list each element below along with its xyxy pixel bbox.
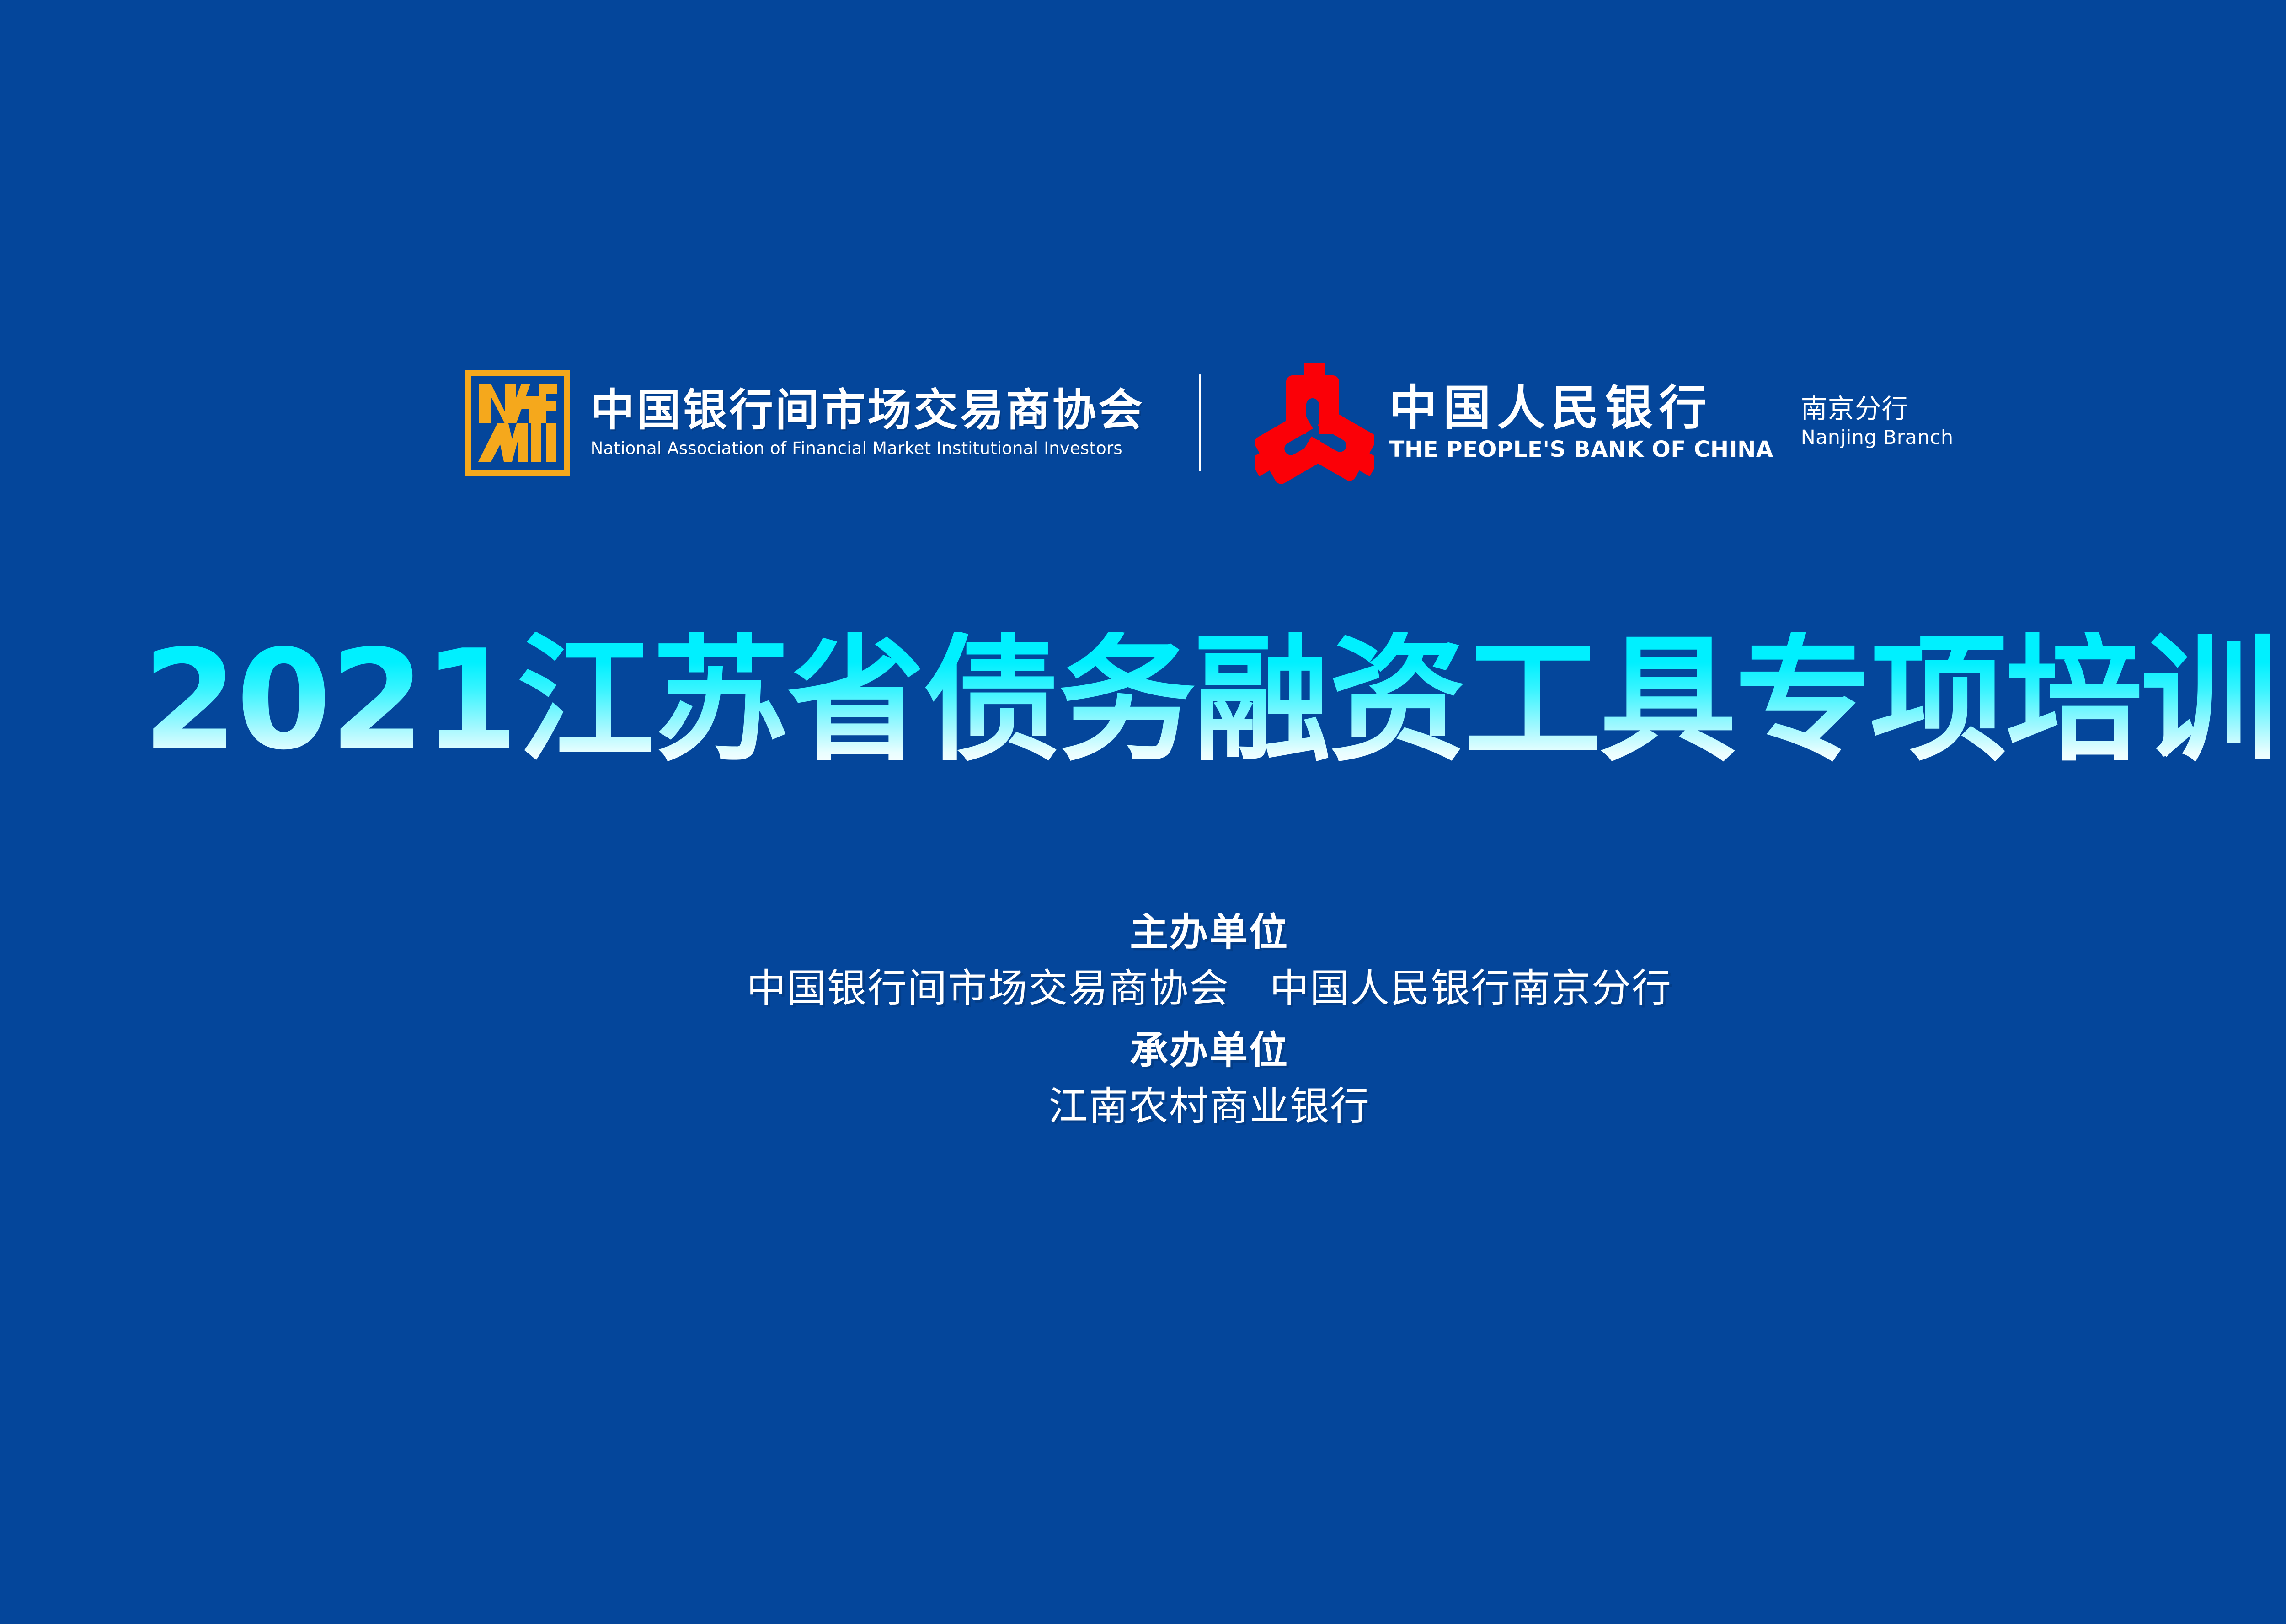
nafmii-logo-group: 中国银行间市场交易商协会 National Association of Fin… [465,370,1145,476]
credits-spacer [0,1012,2286,1028]
pboc-text-block: 中国人民银行 THE PEOPLE'S BANK OF CHINA [1389,383,1773,463]
pboc-branch-en: Nanjing Branch [1801,426,1954,450]
pboc-logo-group: 中国人民银行 THE PEOPLE'S BANK OF CHINA 南京分行 N… [1255,361,1954,485]
host-label: 主办单位 [0,910,2286,955]
page-title: 2021江苏省债务融资工具专项培训 [0,632,2286,769]
nafmii-name-cn: 中国银行间市场交易商协会 [591,387,1145,434]
host-organizations: 中国银行间市场交易商协会 中国人民银行南京分行 [0,965,2286,1012]
nafmii-logo-icon [465,370,570,476]
pboc-name-cn: 中国人民银行 [1389,383,1773,433]
organizer-label: 承办单位 [0,1028,2286,1073]
logo-divider [1199,374,1201,471]
pboc-branch-block: 南京分行 Nanjing Branch [1801,394,1954,452]
logo-bar: 中国银行间市场交易商协会 National Association of Fin… [0,352,2286,494]
organizer-organization: 江南农村商业银行 [0,1083,2286,1130]
pboc-branch-cn: 南京分行 [1801,394,1954,424]
nafmii-text-block: 中国银行间市场交易商协会 National Association of Fin… [591,387,1145,459]
poster-root: { "meta": { "background_color": "#04469B… [0,0,2286,1624]
pboc-emblem-icon [1255,361,1374,485]
nafmii-name-en: National Association of Financial Market… [591,438,1145,459]
pboc-name-en: THE PEOPLE'S BANK OF CHINA [1389,437,1773,463]
credits-block: 主办单位 中国银行间市场交易商协会 中国人民银行南京分行 承办单位 江南农村商业… [0,910,2286,1131]
